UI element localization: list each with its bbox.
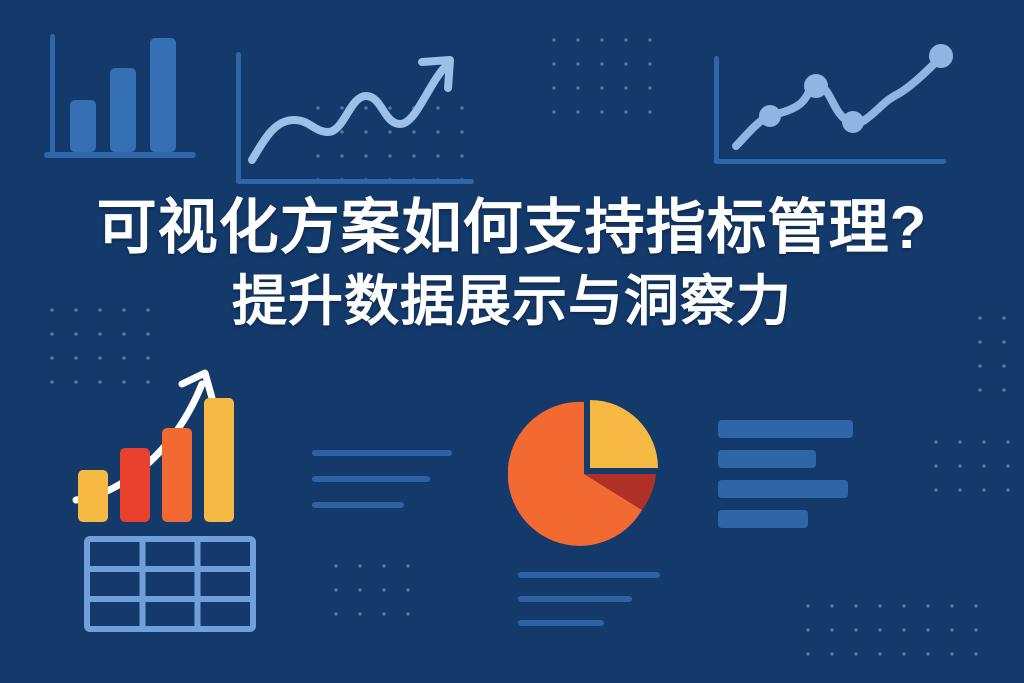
table-grid-lines bbox=[87, 539, 253, 629]
text-line-3 bbox=[312, 502, 404, 508]
marker-line-path bbox=[736, 56, 942, 146]
bar-chart-icon bbox=[34, 24, 204, 168]
trend-line-path bbox=[252, 66, 446, 160]
marker-points bbox=[759, 44, 953, 133]
headline-block: 可视化方案如何支持指标管理? 提升数据展示与洞察力 bbox=[0, 196, 1024, 332]
text-lines-icon-bottom bbox=[518, 572, 668, 642]
text-lines-icon-left bbox=[312, 450, 462, 530]
table-outer-frame bbox=[87, 539, 253, 629]
growth-bar-chart-icon bbox=[66, 360, 266, 526]
page-title: 可视化方案如何支持指标管理? bbox=[0, 196, 1024, 261]
text-line-2 bbox=[518, 596, 632, 602]
dot-grid-center-bottom bbox=[318, 548, 420, 626]
pie-chart-icon bbox=[508, 394, 676, 554]
bar-list-item-3 bbox=[718, 480, 848, 498]
text-line-1 bbox=[518, 572, 660, 578]
bar-list-icon bbox=[718, 420, 868, 530]
text-line-3 bbox=[518, 620, 604, 626]
bar-list-item-2 bbox=[718, 450, 816, 468]
poster-canvas: 可视化方案如何支持指标管理? 提升数据展示与洞察力 bbox=[0, 0, 1024, 683]
pie-slice-amber bbox=[590, 400, 658, 468]
page-subtitle: 提升数据展示与洞察力 bbox=[0, 271, 1024, 333]
data-table-icon bbox=[84, 536, 256, 632]
trend-arrow-line-chart-icon bbox=[232, 40, 480, 196]
marker-chart-axes bbox=[714, 56, 946, 164]
bar-list-item-4 bbox=[718, 510, 808, 528]
bar-chart-bars bbox=[70, 38, 176, 152]
dot-grid-right-bottom bbox=[790, 588, 998, 666]
dot-grid-top-center bbox=[536, 22, 660, 124]
bar-list-item-1 bbox=[718, 420, 853, 438]
dot-grid-right-mid bbox=[918, 424, 1018, 504]
text-line-2 bbox=[312, 476, 430, 482]
text-line-1 bbox=[312, 450, 452, 456]
line-chart-markers-icon bbox=[700, 28, 968, 178]
